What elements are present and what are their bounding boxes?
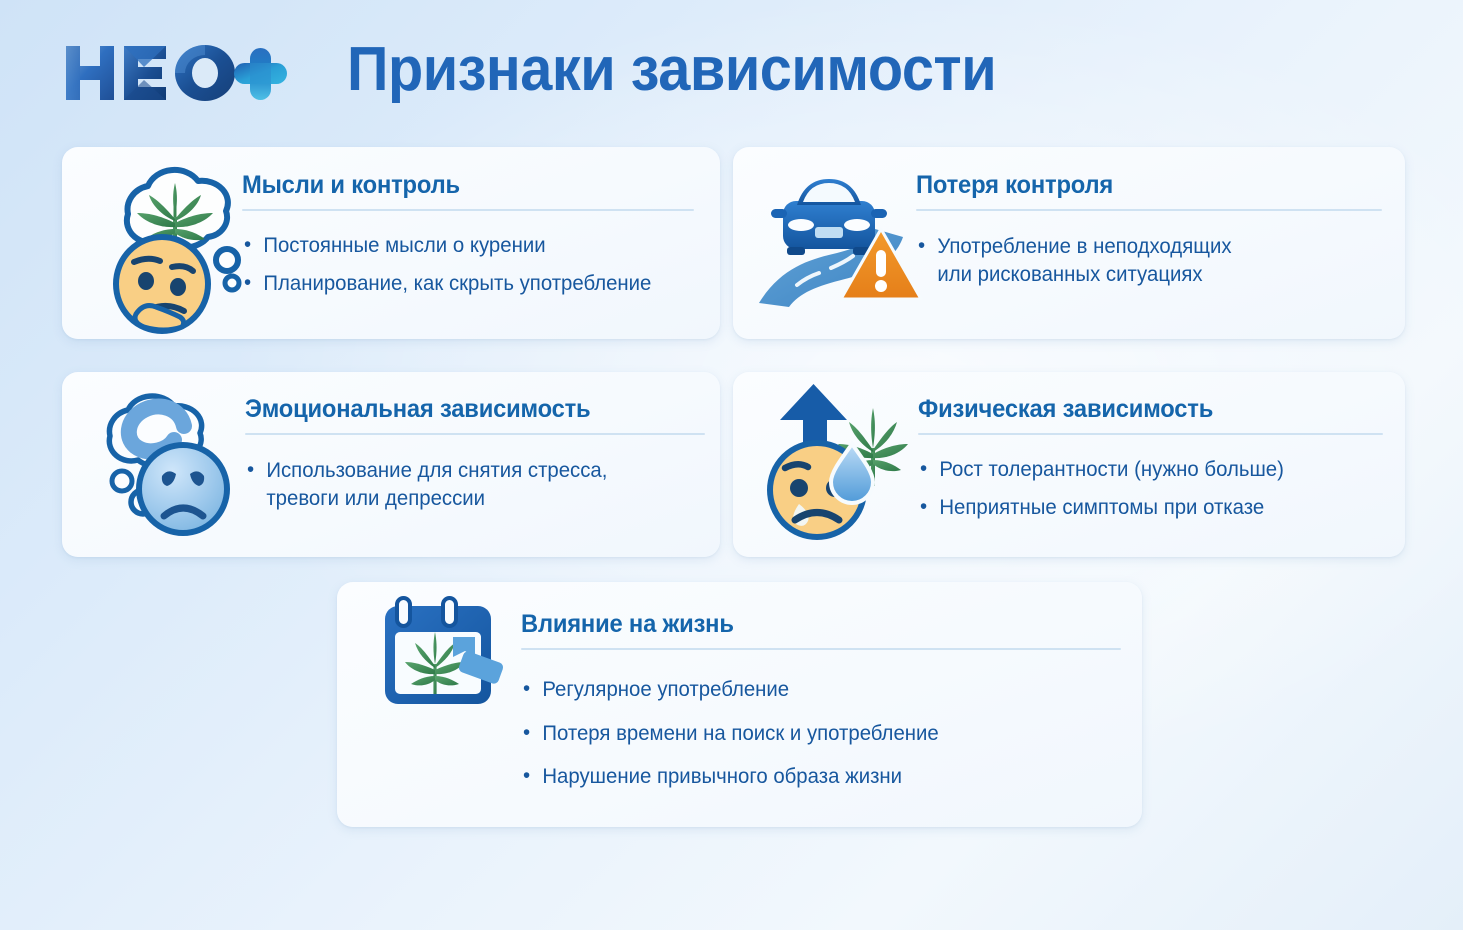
bullet-list: Употребление в неподходящих или рискован…	[916, 233, 1382, 288]
card-emotional-dependence[interactable]: Эмоциональная зависимость Использование …	[62, 372, 720, 557]
list-item-line: тревоги или депрессии	[266, 487, 485, 510]
page-title: Признаки зависимости	[347, 39, 996, 101]
thought-bubble-cannabis-thinking-face-icon	[86, 159, 266, 344]
bullet-list: Регулярное употребление Потеря времени н…	[521, 676, 1121, 791]
neo-plus-logo	[62, 40, 292, 106]
list-item: Регулярное употребление	[521, 676, 1103, 704]
calendar-cannabis-leaf-icon	[373, 592, 513, 722]
card-loss-of-control[interactable]: Потеря контроля Употребление в неподходя…	[733, 147, 1405, 339]
list-item: Нарушение привычного образа жизни	[521, 763, 1103, 791]
bullet-list: Постоянные мысли о курении Планирование,…	[242, 232, 694, 297]
heading-divider	[242, 209, 694, 211]
up-arrow-cannabis-sweating-face-icon	[755, 382, 930, 552]
sad-blue-face-thought-cloud-icon	[88, 384, 253, 549]
list-item: Постоянные мысли о курении	[242, 232, 680, 260]
heading-divider	[521, 648, 1121, 650]
list-item-line: или рискованных ситуациях	[937, 263, 1202, 286]
heading-divider	[918, 433, 1383, 435]
bullet-list: Рост толерантности (нужно больше) Неприя…	[918, 456, 1383, 521]
card-heading: Эмоциональная зависимость	[245, 395, 682, 424]
list-item-line: Использование для снятия стресса,	[266, 459, 607, 482]
list-item: Неприятные симптомы при отказе	[918, 494, 1369, 522]
heading-divider	[916, 209, 1382, 211]
list-item: Потеря времени на поиск и употребление	[521, 720, 1103, 748]
list-item: Употребление в неподходящих или рискован…	[916, 233, 1368, 288]
card-physical-dependence[interactable]: Физическая зависимость Рост толерантност…	[733, 372, 1405, 557]
list-item: Планирование, как скрыть употребление	[242, 270, 680, 298]
car-road-warning-triangle-icon	[753, 155, 923, 330]
bullet-list: Использование для снятия стресса, тревог…	[245, 457, 705, 512]
card-heading: Мысли и контроль	[242, 171, 671, 200]
heading-divider	[245, 433, 705, 435]
card-heading: Влияние на жизнь	[521, 610, 1091, 639]
card-thoughts-control[interactable]: Мысли и контроль Постоянные мысли о куре…	[62, 147, 720, 339]
card-life-impact[interactable]: Влияние на жизнь Регулярное употребление…	[337, 582, 1142, 827]
list-item: Использование для снятия стресса, тревог…	[245, 457, 691, 512]
list-item: Рост толерантности (нужно больше)	[918, 456, 1369, 484]
list-item-line: Употребление в неподходящих	[937, 235, 1231, 258]
card-heading: Потеря контроля	[916, 171, 1359, 200]
header: Признаки зависимости	[0, 0, 1463, 140]
card-heading: Физическая зависимость	[918, 395, 1360, 424]
